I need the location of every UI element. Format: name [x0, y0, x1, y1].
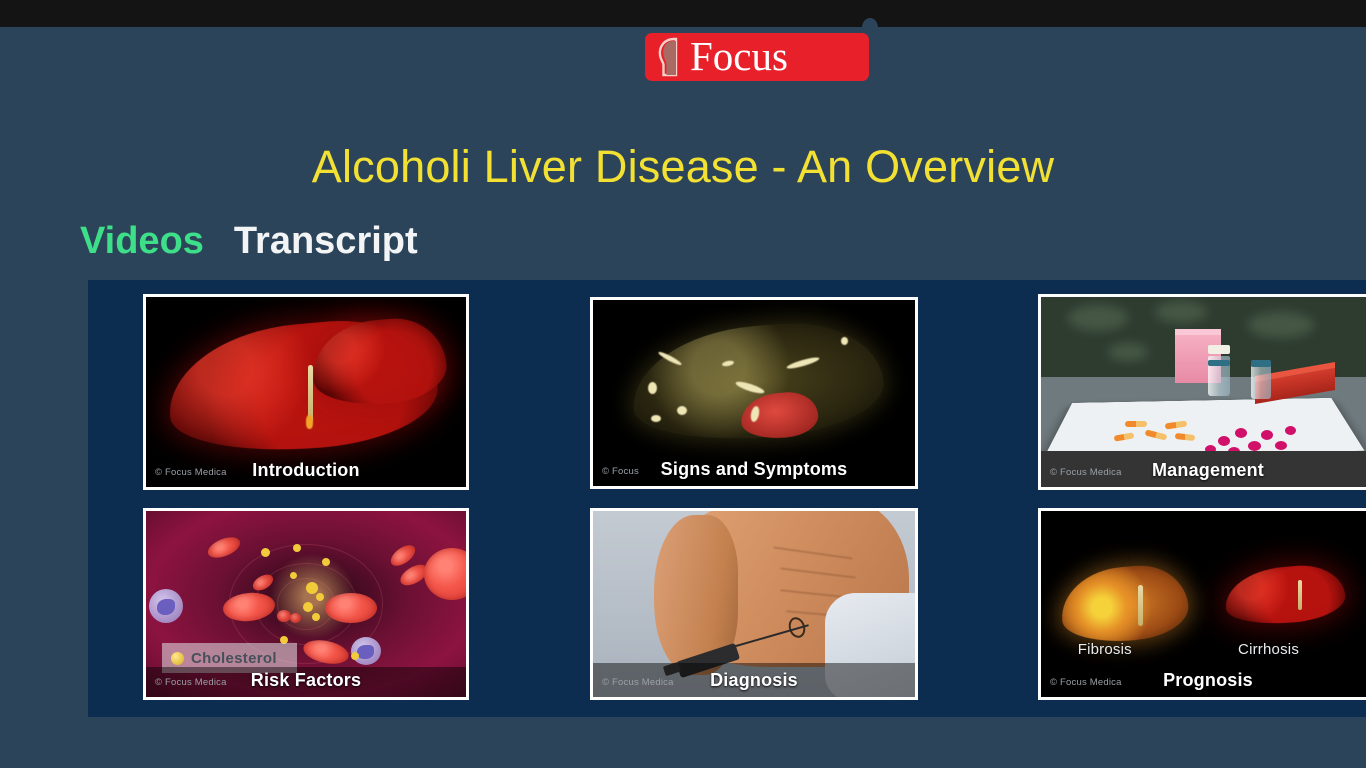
tab-videos[interactable]: Videos: [80, 217, 204, 265]
cholesterol-label: Cholesterol: [191, 650, 277, 667]
video-grid: © Focus Medica Introduction: [88, 280, 1366, 717]
tab-bar: Videos Transcript: [80, 217, 418, 265]
video-thumbnail-introduction: [146, 297, 466, 487]
top-black-bar: [0, 0, 1366, 27]
top-bar-notch: [862, 18, 878, 32]
focus-logo[interactable]: Focus: [645, 33, 869, 81]
video-card-management[interactable]: © Focus Medica Management: [1038, 294, 1366, 490]
head-silhouette-icon: [645, 33, 693, 81]
tab-transcript[interactable]: Transcript: [234, 217, 418, 265]
slide-root: Focus Alcoholi Liver Disease - An Overvi…: [0, 0, 1366, 768]
video-title-signs-and-symptoms: Signs and Symptoms: [593, 459, 915, 480]
fibrosis-label: Fibrosis: [1078, 641, 1132, 658]
video-title-risk-factors: Risk Factors: [146, 670, 466, 691]
video-card-diagnosis[interactable]: © Focus Medica Diagnosis: [590, 508, 918, 700]
video-card-prognosis[interactable]: Fibrosis Cirrhosis © Focus Medica Progno…: [1038, 508, 1366, 700]
video-card-signs-and-symptoms[interactable]: © Focus Signs and Symptoms: [590, 297, 918, 489]
video-title-diagnosis: Diagnosis: [593, 670, 915, 691]
video-card-risk-factors[interactable]: Cholesterol © Focus Medica Risk Factors: [143, 508, 469, 700]
video-thumbnail-management: [1041, 297, 1366, 487]
video-title-management: Management: [1041, 460, 1366, 481]
video-title-introduction: Introduction: [146, 460, 466, 481]
cirrhosis-label: Cirrhosis: [1238, 641, 1299, 658]
video-card-introduction[interactable]: © Focus Medica Introduction: [143, 294, 469, 490]
cholesterol-dot-icon: [171, 652, 184, 665]
logo-wordmark: Focus: [690, 36, 788, 77]
video-title-prognosis: Prognosis: [1041, 670, 1366, 691]
video-grid-panel: © Focus Medica Introduction: [88, 280, 1366, 717]
page-title: Alcoholi Liver Disease - An Overview: [0, 138, 1366, 196]
